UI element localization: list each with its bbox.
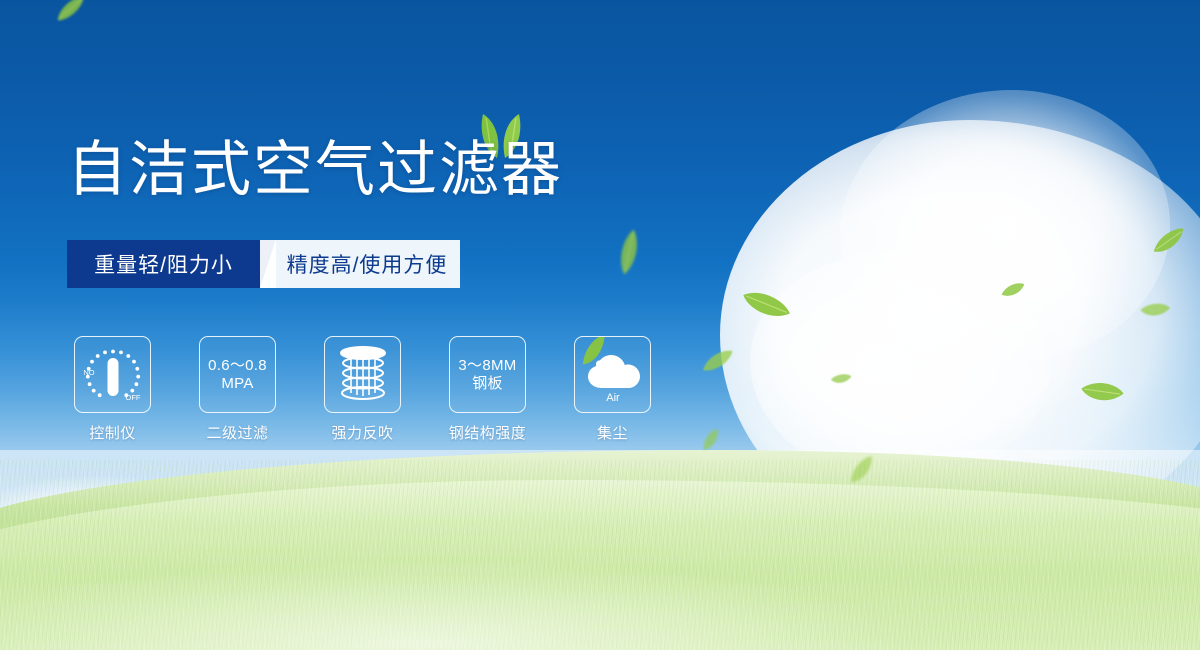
air-label: Air	[606, 392, 620, 404]
air-cloud-dust-icon: Air	[582, 346, 644, 404]
feature-item-steel-structure-strength[interactable]: 3～8MM 钢板 钢结构强度	[449, 336, 526, 443]
feature-label: 强力反吹	[331, 422, 393, 443]
gauge-label-no: NO	[83, 368, 94, 377]
feature-item-two-stage-filtration[interactable]: 0.6～0.8 MPA 二级过滤	[199, 336, 276, 443]
feature-item-strong-back-blow[interactable]: 强力反吹	[324, 336, 401, 443]
feature-item-control-instrument[interactable]: NO OFF 控制仪	[74, 336, 151, 443]
feature-label: 控制仪	[89, 422, 136, 443]
feature-icon-box	[324, 336, 401, 413]
subtitle-segment-left: 重量轻/阻力小	[67, 240, 260, 288]
feature-label: 二级过滤	[206, 422, 268, 443]
page-title: 自洁式空气过滤器	[67, 140, 563, 200]
feature-list: NO OFF 控制仪 0.6～0.8 MPA 二级过滤	[74, 336, 651, 443]
steel-plate-text-icon: 3～8MM 钢板	[458, 357, 516, 392]
subtitle-banner: 重量轻/阻力小 精度高/使用方便	[67, 240, 460, 288]
subtitle-segment-right: 精度高/使用方便	[260, 240, 460, 288]
feature-icon-box: 0.6～0.8 MPA	[199, 336, 276, 413]
gauge-label-off: OFF	[125, 393, 140, 402]
gauge-dial-icon: NO OFF	[77, 339, 149, 411]
hero-banner: 自洁式空气过滤器 重量轻/阻力小 精度高/使用方便	[0, 0, 1200, 650]
feature-item-dust-collection[interactable]: Air 集尘	[574, 336, 651, 443]
feature-icon-box: Air	[574, 336, 651, 413]
feature-icon-box: 3～8MM 钢板	[449, 336, 526, 413]
hero-content: 自洁式空气过滤器 重量轻/阻力小 精度高/使用方便	[0, 0, 1200, 650]
stacked-filter-cartridge-icon	[334, 344, 392, 406]
feature-label: 钢结构强度	[449, 422, 527, 443]
pressure-text-icon: 0.6～0.8 MPA	[208, 357, 267, 392]
feature-icon-box: NO OFF	[74, 336, 151, 413]
feature-label: 集尘	[597, 422, 628, 443]
